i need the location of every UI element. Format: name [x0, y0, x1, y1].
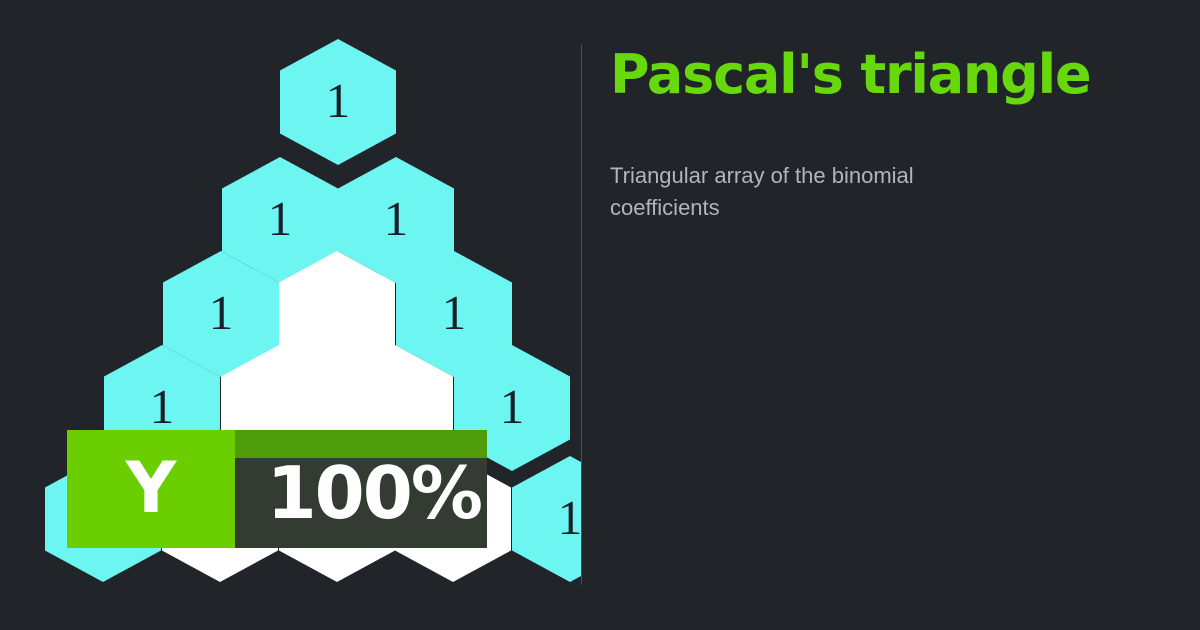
hex-cell-label: 1 [326, 76, 351, 125]
hex-cell-label: 1 [442, 288, 467, 337]
preview-card: 111111111 Pascal's triangle Triangular a… [0, 0, 1200, 630]
score-badge: Y 100% [67, 430, 487, 548]
hex-cell-label: 1 [384, 194, 409, 243]
hex-cell-label: 1 [150, 382, 175, 431]
page-title: Pascal's triangle [610, 47, 1170, 104]
hex-cell-r4-c4: 1 [512, 456, 581, 582]
badge-grade-letter: Y [126, 453, 177, 523]
hex-cell-label: 1 [268, 194, 293, 243]
badge-percent-value: 100% [267, 457, 487, 529]
badge-value-block: 100% [235, 430, 487, 548]
hex-cell-label: 1 [500, 382, 525, 431]
hex-cell-label: 1 [209, 288, 234, 337]
badge-grade-block: Y [67, 430, 235, 548]
info-panel: Pascal's triangle Triangular array of th… [610, 0, 1170, 630]
page-subtitle: Triangular array of the binomial coeffic… [610, 160, 960, 224]
hex-cell-r0-c0: 1 [280, 39, 396, 165]
panel-divider [581, 45, 582, 585]
hex-cell-label: 1 [558, 493, 581, 542]
